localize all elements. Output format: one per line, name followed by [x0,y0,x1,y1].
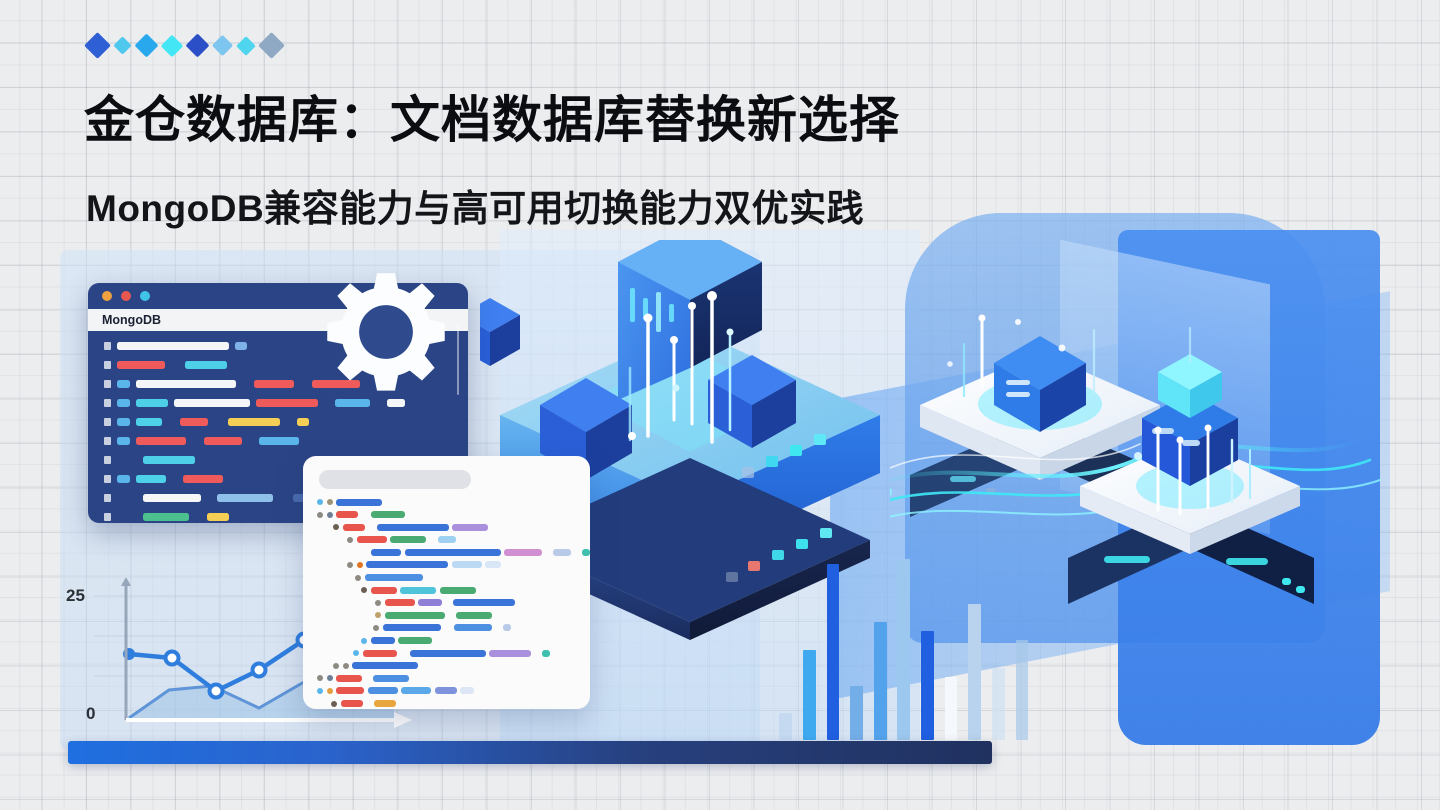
code-bullet-dot [327,675,333,681]
code-token [235,342,247,350]
code-token [357,536,387,543]
code-token [371,511,405,518]
code-bullet-dot [317,499,323,505]
code-token [228,418,280,426]
code-token [460,687,474,694]
line-gutter-mark [104,475,111,483]
chart-bar [874,622,887,740]
code-token [117,456,137,464]
code-token [365,574,423,581]
code-token [454,624,492,631]
code-card-line [317,674,576,682]
line-gutter-mark [104,342,111,350]
diamond-4-icon [161,34,184,57]
chart-bar [850,686,863,740]
code-token [279,494,287,502]
code-token [503,624,511,631]
code-token [398,637,432,644]
code-token [418,599,442,606]
code-bullet-dot [343,663,349,669]
code-card-line [317,649,576,657]
chart-bar [921,631,934,740]
code-token [371,549,401,556]
code-token [117,399,130,407]
code-token [376,399,381,407]
code-token [405,549,501,556]
chart-bar [968,604,981,740]
code-token [143,494,201,502]
secondary-code-card[interactable] [303,456,590,709]
code-token [495,624,499,631]
code-token [435,687,457,694]
code-token [336,511,358,518]
code-token [117,513,137,521]
code-token [485,561,501,568]
code-token [374,700,396,707]
code-token [217,494,273,502]
code-token [136,380,236,388]
line-gutter-mark [104,361,111,369]
code-token [387,399,405,407]
code-token [489,650,531,657]
code-token [172,475,177,483]
code-token [368,687,398,694]
code-bullet-dot [375,612,381,618]
code-token [452,561,482,568]
code-token [504,549,542,556]
code-token [297,418,309,426]
code-token [366,561,448,568]
code-bullet-dot [347,537,353,543]
code-token [254,380,294,388]
code-bullet-dot [327,512,333,518]
code-token [440,587,476,594]
code-token [456,612,492,619]
code-token [352,662,418,669]
code-token [410,650,486,657]
code-card-line [317,611,576,619]
code-card-line [317,548,576,556]
slide-canvas: 25 0 [0,0,1440,810]
line-gutter-mark [104,399,111,407]
code-token [168,418,174,426]
code-token [136,475,166,483]
line-gutter-mark [104,418,111,426]
chart-bar [1016,640,1029,740]
code-token [371,587,397,594]
code-card-line [317,574,576,582]
code-token [136,399,168,407]
code-card-header-bar [319,470,471,489]
code-bullet-dot [331,701,337,707]
chart-bar [803,650,816,740]
code-token [335,399,370,407]
code-token [242,380,248,388]
code-token [343,524,365,531]
code-token [400,587,436,594]
code-token [371,637,395,644]
code-token [117,437,130,445]
code-bullet-dot [373,625,379,631]
chart-bar [827,564,840,740]
diamond-7-icon [236,36,256,56]
code-token [383,624,441,631]
code-line [88,416,468,428]
code-token [174,399,250,407]
code-token [143,456,195,464]
code-token [401,687,431,694]
code-token [400,650,406,657]
code-token [575,549,579,556]
code-token [256,399,318,407]
line-gutter-mark [104,494,111,502]
line-gutter-mark [104,437,111,445]
diamond-decoration-row [88,36,281,55]
code-token [214,418,222,426]
code-token [117,418,130,426]
code-token [192,437,198,445]
code-line [88,397,468,409]
code-token [207,494,211,502]
code-token [366,675,370,682]
code-token [204,437,242,445]
code-bullet-dot [361,587,367,593]
code-card-line [317,624,576,632]
code-token [136,418,162,426]
diamond-1-icon [84,32,111,59]
code-token [136,437,186,445]
code-token [366,700,370,707]
code-bullet-dot [357,562,363,568]
code-token [535,650,539,657]
diamond-3-icon [134,33,158,57]
code-token [286,418,291,426]
code-card-line [317,523,576,531]
floating-cube-left [480,298,520,366]
code-token [373,675,409,682]
code-token [446,599,450,606]
traffic-light-close[interactable] [121,291,131,301]
gear-icon [322,268,450,396]
line-gutter-mark [104,380,111,388]
code-bullet-dot [333,524,339,530]
code-token [259,437,299,445]
code-token [248,437,253,445]
page-subtitle: MongoDB兼容能力与高可用切换能力双优实践 [86,190,864,227]
code-token [207,513,229,521]
background-bar-chart [775,540,1035,740]
code-token [377,524,449,531]
code-token [117,342,229,350]
code-token [368,524,373,531]
y-axis-label-max: 25 [66,586,85,606]
diamond-6-icon [212,35,233,56]
code-token [180,418,208,426]
code-token [362,511,368,518]
line-gutter-mark [104,456,111,464]
code-token [183,475,223,483]
code-token [300,380,306,388]
code-token [324,399,329,407]
code-card-line [317,511,576,519]
code-bullet-dot [327,499,333,505]
code-token [444,624,450,631]
code-bullet-dot [333,663,339,669]
code-token [453,599,515,606]
code-bullet-dot [317,675,323,681]
code-token [117,475,130,483]
code-bullet-dot [355,575,361,581]
code-bullet-dot [317,688,323,694]
code-token [143,513,189,521]
code-bullet-dot [353,650,359,656]
code-card-line [317,599,576,607]
editor-scrollbar[interactable] [457,325,459,395]
chart-bar [779,713,792,740]
code-card-line [317,561,576,569]
code-token [117,361,165,369]
code-card-line [317,498,576,506]
code-card-line [317,637,576,645]
code-card-line [317,700,576,708]
code-bullet-dot [317,512,323,518]
bottom-accent-bar [68,741,992,764]
code-token [385,612,445,619]
code-token [542,650,550,657]
node-b [1058,328,1322,630]
chart-bar [897,559,910,740]
code-bullet-dot [361,638,367,644]
code-token [582,549,590,556]
code-card-line [317,586,576,594]
code-token [448,612,452,619]
code-token [185,361,227,369]
code-line [88,435,468,447]
code-card-line [317,687,576,695]
code-bullet-dot [327,688,333,694]
code-token [438,536,456,543]
code-token [336,687,364,694]
code-token [452,524,488,531]
code-token [385,599,415,606]
code-token [341,700,363,707]
code-token [390,536,426,543]
code-token [363,650,397,657]
diamond-2-icon [113,36,131,54]
code-token [430,536,435,543]
code-token [546,549,550,556]
code-token [553,549,571,556]
code-card-line [317,536,576,544]
code-token [336,675,362,682]
code-token [117,380,130,388]
code-token [117,494,137,502]
diamond-8-icon [258,32,285,59]
chart-bar [945,677,958,740]
code-card-line [317,662,576,670]
diamond-5-icon [185,33,209,57]
line-gutter-mark [104,513,111,521]
chart-bar [992,668,1005,740]
code-token [336,499,382,506]
code-bullet-dot [375,600,381,606]
code-token [195,513,201,521]
traffic-light-maximize[interactable] [140,291,150,301]
editor-tab-label: MongoDB [102,313,161,327]
traffic-light-minimize[interactable] [102,291,112,301]
code-bullet-dot [347,562,353,568]
code-card-lines [303,498,590,708]
page-title: 金仓数据库：文档数据库替换新选择 [84,95,900,145]
code-token [171,361,179,369]
